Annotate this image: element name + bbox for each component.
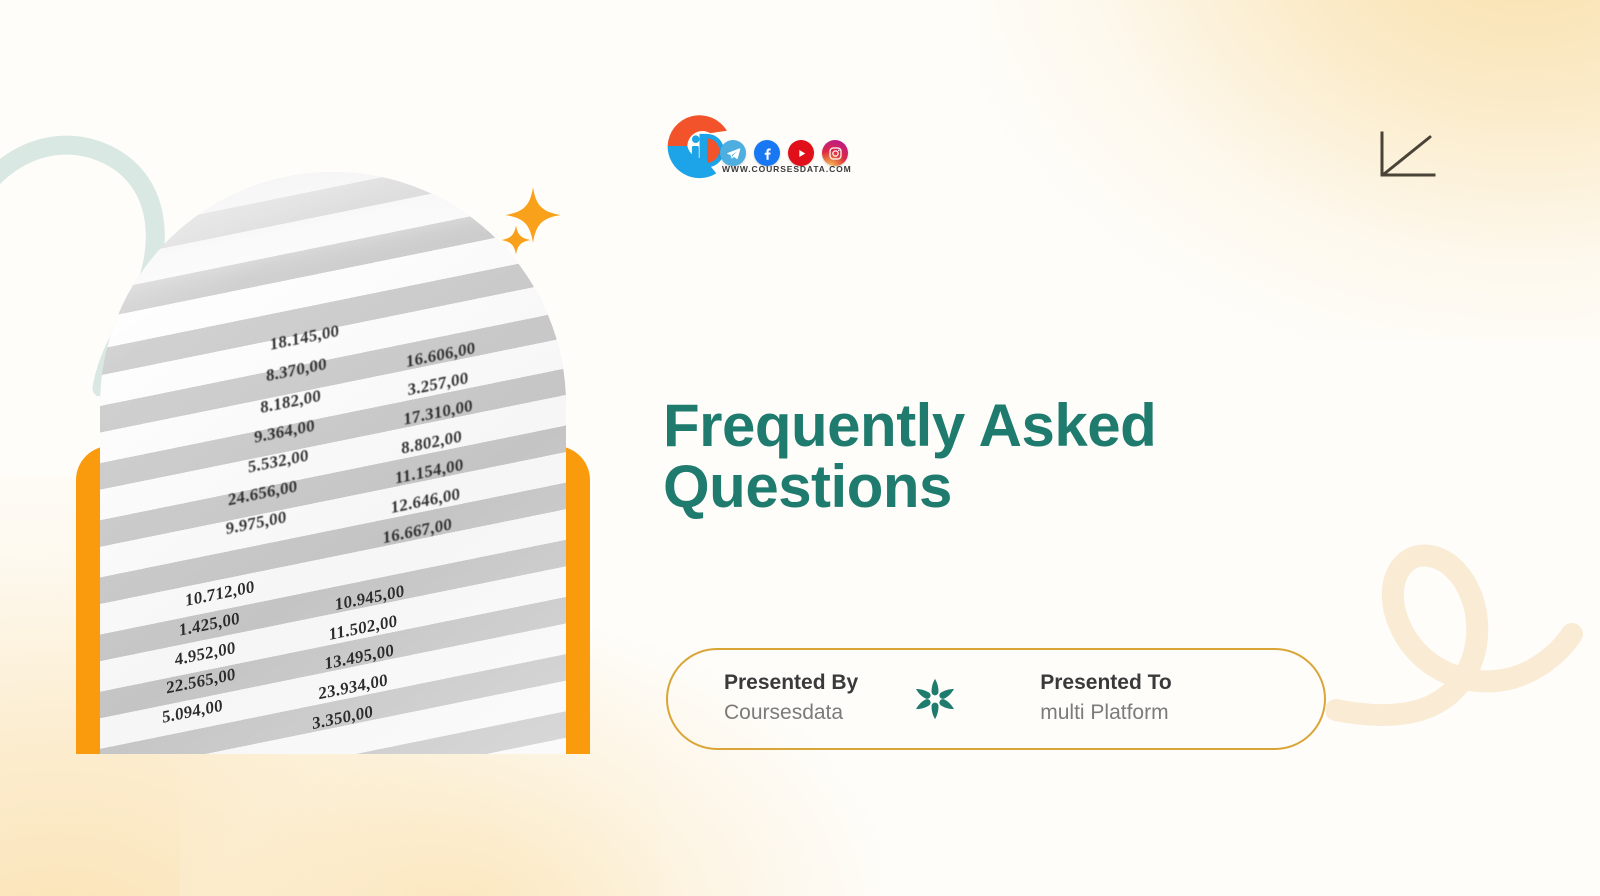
cell-value: 13.495,00 xyxy=(323,641,396,675)
cell-value: 1.425,00 xyxy=(177,609,242,641)
cell-value: 5.094,00 xyxy=(160,696,225,728)
presented-by-label: Presented By xyxy=(724,670,858,696)
presented-to-value: multi Platform xyxy=(1040,699,1171,727)
cell-value: 17.310,00 xyxy=(401,396,474,430)
presented-by-value: Coursesdata xyxy=(724,699,858,727)
cell-value: 11.154,00 xyxy=(393,455,465,489)
spreadsheet-numbers: 18.145,00 8.370,00 16.606,00 8.182,00 3.… xyxy=(100,172,566,754)
facebook-icon[interactable] xyxy=(754,140,780,166)
telegram-icon[interactable] xyxy=(720,140,746,166)
cell-value: 22.565,00 xyxy=(164,665,237,699)
top-right-gradient xyxy=(980,0,1600,340)
instagram-icon[interactable] xyxy=(822,140,848,166)
youtube-icon[interactable] xyxy=(788,140,814,166)
cell-value: 8.802,00 xyxy=(399,427,464,459)
cell-value: 24.656,00 xyxy=(226,476,299,510)
cell-value: 12.646,00 xyxy=(389,484,462,518)
presentation-slide: 18.145,00 8.370,00 16.606,00 8.182,00 3.… xyxy=(0,0,1600,896)
cell-value: 3.350,00 xyxy=(310,702,375,734)
spreadsheet-photo: 18.145,00 8.370,00 16.606,00 8.182,00 3.… xyxy=(100,172,566,754)
cell-value: 8.182,00 xyxy=(258,386,323,418)
presented-by-block: Presented By Coursesdata xyxy=(724,670,858,728)
cell-value: 18.145,00 xyxy=(268,321,341,355)
social-links[interactable] xyxy=(720,140,848,166)
cell-value: 16.667,00 xyxy=(381,514,454,548)
sparkle-four-point-icon-small xyxy=(500,224,532,256)
cell-value: 10.712,00 xyxy=(183,577,256,611)
cell-value: 3.257,00 xyxy=(406,368,471,400)
flower-asterisk-icon xyxy=(912,676,958,722)
presented-bar: Presented By Coursesdata Presented To mu… xyxy=(666,648,1326,750)
cell-value: 11.502,00 xyxy=(327,611,399,645)
cell-value: 5.532,00 xyxy=(246,446,311,478)
cream-loop-decoration xyxy=(1326,500,1600,820)
photo-arch-container: 18.145,00 8.370,00 16.606,00 8.182,00 3.… xyxy=(76,172,590,754)
cell-value: 10.945,00 xyxy=(333,581,406,615)
cell-value: 16.606,00 xyxy=(404,338,477,372)
presented-to-block: Presented To multi Platform xyxy=(1040,670,1171,728)
cell-value: 23.934,00 xyxy=(316,670,389,704)
presented-to-label: Presented To xyxy=(1040,670,1171,696)
cell-value: 9.975,00 xyxy=(224,507,289,539)
page-title: Frequently Asked Questions xyxy=(663,395,1363,517)
axis-chart-corner-icon xyxy=(1378,131,1436,181)
cell-value: 9.364,00 xyxy=(252,416,317,448)
cell-value: 8.370,00 xyxy=(264,354,329,386)
